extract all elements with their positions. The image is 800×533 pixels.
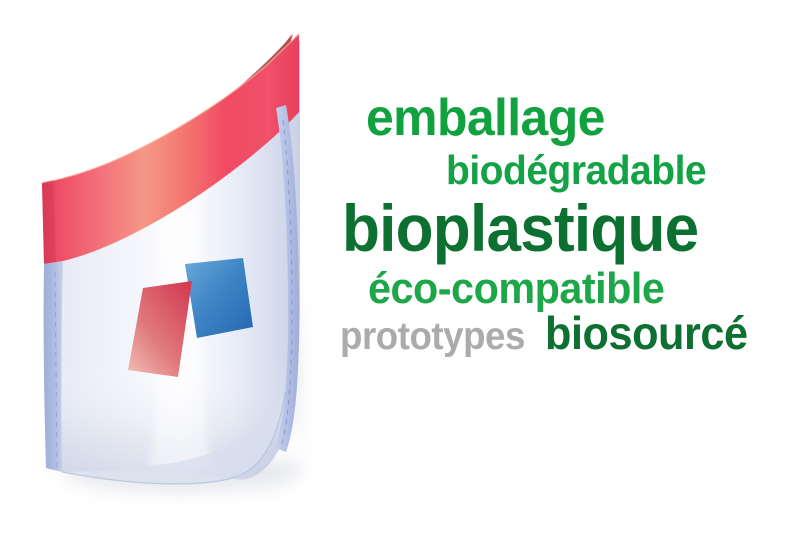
swatch-blue	[185, 258, 253, 338]
keyword-bioplastique: bioplastique	[342, 195, 698, 261]
keyword-cloud: emballage biodégradable bioplastique éco…	[330, 82, 800, 372]
pouch-illustration	[0, 0, 360, 533]
keyword-emballage: emballage	[366, 92, 605, 144]
keyword-row-prototypes-biosource: prototypesbiosourcé	[340, 310, 760, 356]
poster-canvas: emballage biodégradable bioplastique éco…	[0, 0, 800, 533]
keyword-eco-compatible: éco-compatible	[368, 267, 664, 311]
pouch-seam-left	[44, 261, 63, 472]
keyword-prototypes: prototypes	[340, 317, 525, 356]
keyword-biosource: biosourcé	[545, 310, 748, 356]
keyword-biodegradable: biodégradable	[446, 150, 706, 191]
